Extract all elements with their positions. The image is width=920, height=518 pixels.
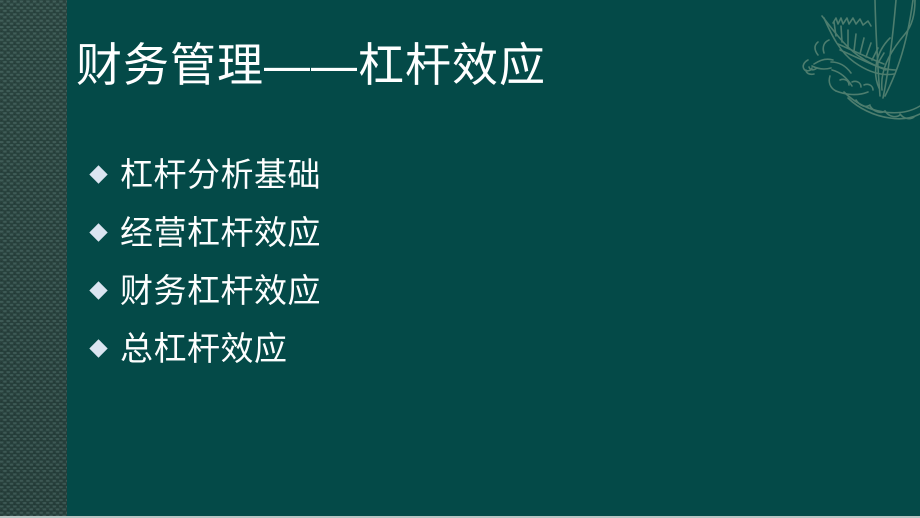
- diamond-bullet-icon: [88, 222, 110, 244]
- slide-title: 财务管理——杠杆效应: [76, 36, 546, 94]
- left-texture-band: [0, 0, 67, 518]
- list-item-label: 经营杠杆效应: [120, 213, 321, 253]
- list-item-label: 财务杠杆效应: [120, 271, 321, 311]
- list-item[interactable]: 杠杆分析基础: [88, 146, 648, 204]
- list-item[interactable]: 经营杠杆效应: [88, 204, 648, 262]
- bullet-list: 杠杆分析基础 经营杠杆效应 财务杠杆效应 总杠杆效应: [88, 146, 648, 378]
- diamond-bullet-icon: [88, 164, 110, 186]
- list-item[interactable]: 财务杠杆效应: [88, 262, 648, 320]
- diamond-bullet-icon: [88, 280, 110, 302]
- list-item-label: 总杠杆效应: [120, 329, 288, 369]
- list-item-label: 杠杆分析基础: [120, 155, 321, 195]
- phoenix-bird-ornament-icon: [784, 0, 920, 128]
- presentation-slide: 财务管理——杠杆效应 杠杆分析基础 经营杠杆效应 财务杠杆效应 总杠杆效应: [0, 0, 920, 518]
- diamond-bullet-icon: [88, 338, 110, 360]
- list-item[interactable]: 总杠杆效应: [88, 320, 648, 378]
